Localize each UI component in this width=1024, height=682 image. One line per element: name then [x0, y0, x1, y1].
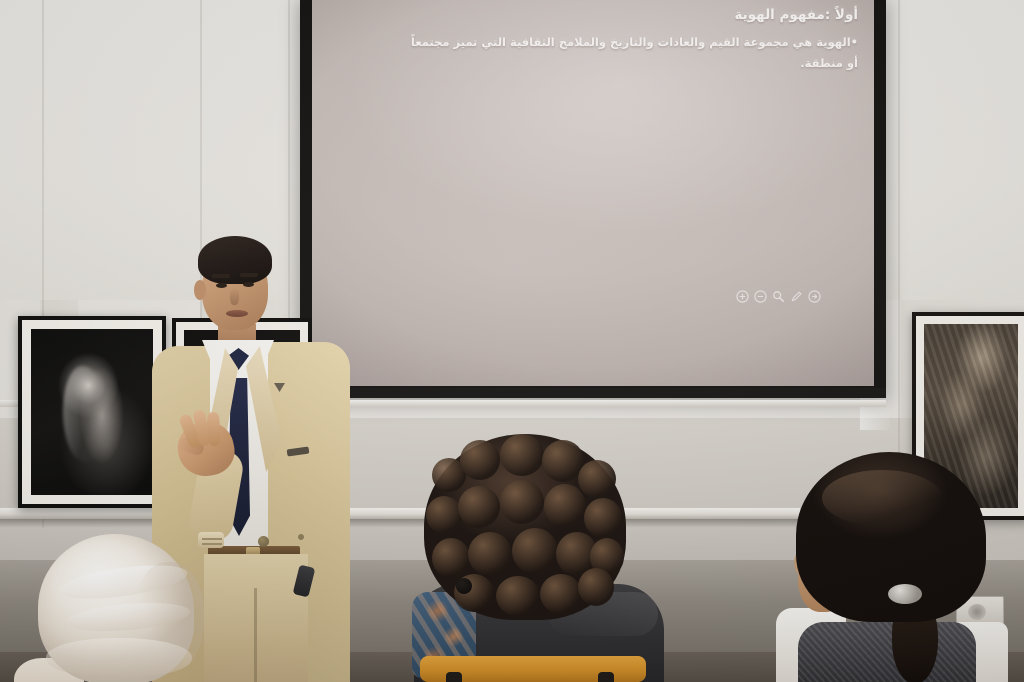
- presenter-trouser-seam: [254, 588, 257, 682]
- chair-fitting: [598, 672, 614, 682]
- hair-curl: [540, 574, 582, 614]
- presenter-mouth: [226, 310, 248, 317]
- artwork-mat: [22, 320, 162, 504]
- artwork-image-portrait: [31, 329, 153, 495]
- hair-curl: [426, 496, 462, 534]
- next-icon[interactable]: [808, 290, 821, 303]
- projection-screen-bottom-edge: [300, 388, 886, 398]
- attendee-vest-texture: [798, 622, 976, 682]
- attendee-hair-highlight: [822, 470, 942, 526]
- presenter-hair: [198, 236, 272, 284]
- presenter-jacket-button: [258, 536, 269, 547]
- hair-curl: [544, 484, 586, 528]
- hair-curl: [432, 538, 470, 578]
- hair-curl: [460, 440, 500, 480]
- hair-curl: [584, 498, 622, 538]
- slide-body-line-2: أو منطقة.: [328, 53, 858, 74]
- presenter-finger: [207, 412, 221, 447]
- magnifier-icon[interactable]: [772, 290, 785, 303]
- pen-icon[interactable]: [790, 290, 803, 303]
- presenter-eye-right: [243, 282, 254, 287]
- slide-title: أولاً :مفهوم الهوية: [328, 6, 858, 26]
- zoom-out-icon[interactable]: [754, 290, 767, 303]
- attendee-curly-hair: [398, 434, 688, 682]
- hair-curl: [512, 528, 558, 574]
- hair-tie: [888, 584, 922, 604]
- hair-curl: [578, 460, 616, 498]
- slide-text-block: أولاً :مفهوم الهوية •الهوية هي مجموعة ال…: [312, 2, 874, 74]
- presenter-jacket-button-small: [298, 534, 304, 540]
- hair-curl: [500, 480, 544, 524]
- hair-curl: [458, 486, 500, 528]
- presenter-eye-left: [216, 283, 227, 288]
- hair-curl: [578, 568, 614, 606]
- presenter-ear: [194, 280, 206, 300]
- hijab-shadow: [134, 562, 204, 672]
- lecture-room-scene: أولاً :مفهوم الهوية •الهوية هي مجموعة ال…: [0, 0, 1024, 682]
- slide-body-line-1: •الهوية هي مجموعة القيم والعادات والتاري…: [328, 32, 858, 53]
- hair-curl: [496, 576, 540, 616]
- zoom-in-icon[interactable]: [736, 290, 749, 303]
- slide-body: •الهوية هي مجموعة القيم والعادات والتاري…: [328, 32, 858, 75]
- slide-control-bar[interactable]: [736, 290, 821, 303]
- chair-fitting: [446, 672, 462, 682]
- framed-artwork-left: [18, 316, 166, 508]
- attendee-ponytail: [762, 452, 1024, 682]
- hair-curl: [468, 532, 512, 576]
- presenter-eyebrow-left: [212, 274, 230, 278]
- attendee-hair: [424, 434, 626, 620]
- presenter-nose: [230, 288, 239, 305]
- hair-curl: [500, 434, 544, 476]
- presenter-eyebrow-right: [240, 273, 258, 277]
- hair-accessory: [456, 578, 472, 594]
- attendee-hijab: [14, 528, 226, 682]
